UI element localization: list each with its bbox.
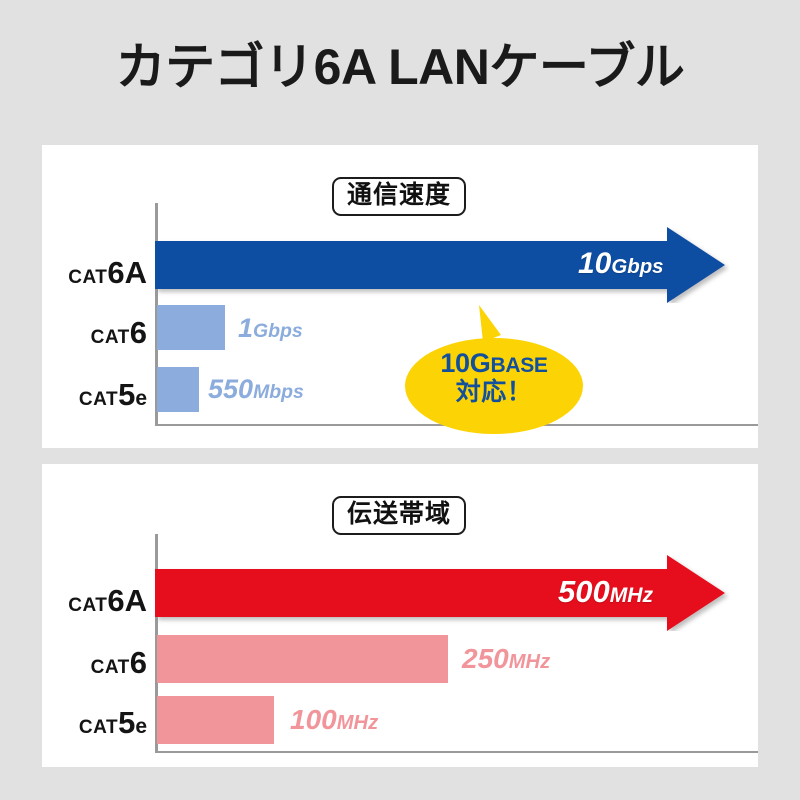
chart-title-chip-band: 伝送帯域 bbox=[332, 496, 466, 535]
bar-cat5e-band bbox=[157, 696, 274, 744]
chart-communication-speed: 通信速度 CAT6A 10Gbps bbox=[42, 145, 758, 448]
cat-number: 6 bbox=[130, 645, 147, 680]
bar-arrow-cat6a-band: 500MHz bbox=[155, 555, 730, 631]
cat-number: 5 bbox=[118, 377, 135, 412]
value-unit: MHz bbox=[337, 712, 378, 734]
bar-value-cat6-speed: 1Gbps bbox=[238, 315, 303, 342]
value-unit: Gbps bbox=[611, 256, 663, 278]
panel-transmission-bandwidth: 伝送帯域 CAT6A 500MHz bbox=[42, 464, 758, 767]
cat-prefix: CAT bbox=[68, 267, 107, 288]
cat-number: 6 bbox=[130, 315, 147, 350]
value-main: 100 bbox=[290, 704, 337, 735]
bar-value-cat6a-speed: 10Gbps bbox=[578, 249, 664, 279]
bar-cat5e-speed bbox=[157, 367, 199, 412]
page-title: カテゴリ6A LANケーブル bbox=[0, 42, 800, 92]
value-unit: Mbps bbox=[253, 381, 304, 403]
bar-value-cat6a-band: 500MHz bbox=[558, 576, 653, 607]
cat-suffix: A bbox=[125, 583, 147, 618]
value-unit: MHz bbox=[509, 651, 550, 673]
cat-number: 6 bbox=[107, 255, 124, 290]
bar-value-cat5e-band: 100MHz bbox=[290, 706, 378, 734]
cat-prefix: CAT bbox=[91, 657, 130, 678]
category-label-cat6-band: CAT6 bbox=[42, 647, 147, 678]
category-label-cat6-speed: CAT6 bbox=[42, 317, 147, 348]
value-main: 550 bbox=[208, 374, 253, 404]
cat-number: 6 bbox=[107, 583, 124, 618]
category-label-cat5e-band: CAT5e bbox=[42, 707, 147, 738]
cat-suffix: e bbox=[135, 387, 147, 410]
cat-suffix: e bbox=[135, 715, 147, 738]
bar-value-cat5e-speed: 550Mbps bbox=[208, 376, 304, 403]
value-unit: MHz bbox=[610, 584, 653, 607]
x-axis-line-band bbox=[155, 751, 758, 753]
value-main: 250 bbox=[462, 643, 509, 674]
value-unit: Gbps bbox=[253, 320, 303, 342]
infographic-stage: カテゴリ6A LANケーブル 通信速度 CAT6A bbox=[0, 0, 800, 800]
chart-transmission-bandwidth: 伝送帯域 CAT6A 500MHz bbox=[42, 464, 758, 767]
cat-number: 5 bbox=[118, 705, 135, 740]
category-label-cat6a-speed: CAT6A bbox=[42, 257, 147, 288]
category-label-cat6a-band: CAT6A bbox=[42, 585, 147, 616]
cat-prefix: CAT bbox=[91, 327, 130, 348]
cat-prefix: CAT bbox=[68, 595, 107, 616]
bar-cat6-speed bbox=[157, 305, 225, 350]
chart-title-chip-speed: 通信速度 bbox=[332, 177, 466, 216]
cat-prefix: CAT bbox=[79, 717, 118, 738]
bar-value-cat6-band: 250MHz bbox=[462, 645, 550, 673]
value-main: 1 bbox=[238, 313, 253, 343]
value-main: 10 bbox=[578, 247, 611, 280]
cat-prefix: CAT bbox=[79, 389, 118, 410]
panel-communication-speed: 通信速度 CAT6A 10Gbps bbox=[42, 145, 758, 448]
category-label-cat5e-speed: CAT5e bbox=[42, 379, 147, 410]
bar-arrow-cat6a-speed: 10Gbps bbox=[155, 227, 730, 303]
value-main: 500 bbox=[558, 574, 610, 609]
callout-bubble-10gbase: 10GBASE 対応！ bbox=[405, 302, 583, 434]
cat-suffix: A bbox=[125, 255, 147, 290]
bar-cat6-band bbox=[157, 635, 448, 683]
